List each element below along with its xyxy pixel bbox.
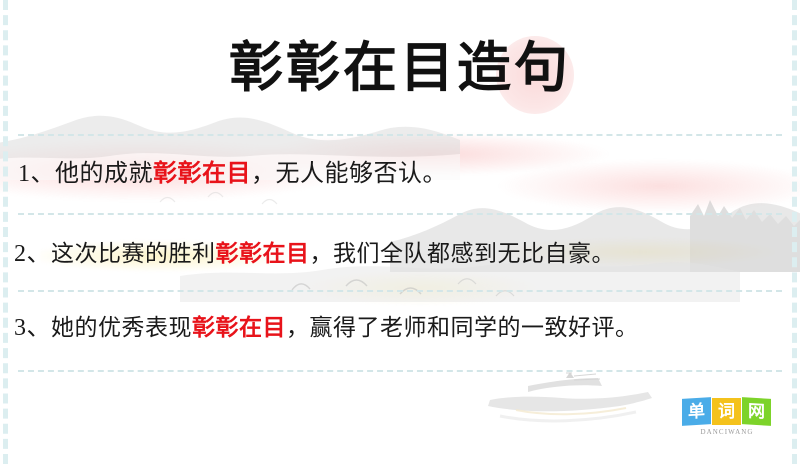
- list-item: 1、他的成就彰彰在目，无人能够否认。: [18, 158, 788, 190]
- logo-block-3: 网: [742, 397, 771, 426]
- logo-blocks: 单 词 网: [681, 398, 773, 426]
- idiom-highlight: 彰彰在目: [153, 161, 251, 187]
- sentence-prefix: 他的成就: [55, 161, 153, 187]
- logo-block-1: 单: [682, 397, 711, 426]
- page-title: 彰彰在目造句: [0, 36, 800, 100]
- site-logo[interactable]: 单 词 网 DANCIWANG: [681, 398, 773, 442]
- list-item: 3、她的优秀表现彰彰在目，赢得了老师和同学的一致好评。: [14, 312, 784, 344]
- logo-block-2: 词: [712, 398, 741, 425]
- sentence-number: 2、: [14, 241, 51, 267]
- sentence-prefix: 这次比赛的胜利: [51, 241, 216, 266]
- idiom-highlight: 彰彰在目: [216, 241, 310, 266]
- sentence-number: 3、: [14, 315, 51, 341]
- sentence-suffix: ，无人能够否认。: [251, 161, 447, 187]
- logo-subtitle: DANCIWANG: [681, 428, 773, 436]
- sentence-suffix: ，我们全队都感到无比自豪。: [310, 241, 616, 266]
- sentence-number: 1、: [18, 161, 55, 187]
- slide-canvas: 彰彰在目造句 1、他的成就彰彰在目，无人能够否认。 2、这次比赛的胜利彰彰在目，…: [0, 0, 800, 464]
- idiom-highlight: 彰彰在目: [192, 315, 286, 340]
- sentence-suffix: ，赢得了老师和同学的一致好评。: [286, 315, 639, 340]
- list-item: 2、这次比赛的胜利彰彰在目，我们全队都感到无比自豪。: [14, 238, 784, 270]
- sentence-prefix: 她的优秀表现: [51, 315, 192, 340]
